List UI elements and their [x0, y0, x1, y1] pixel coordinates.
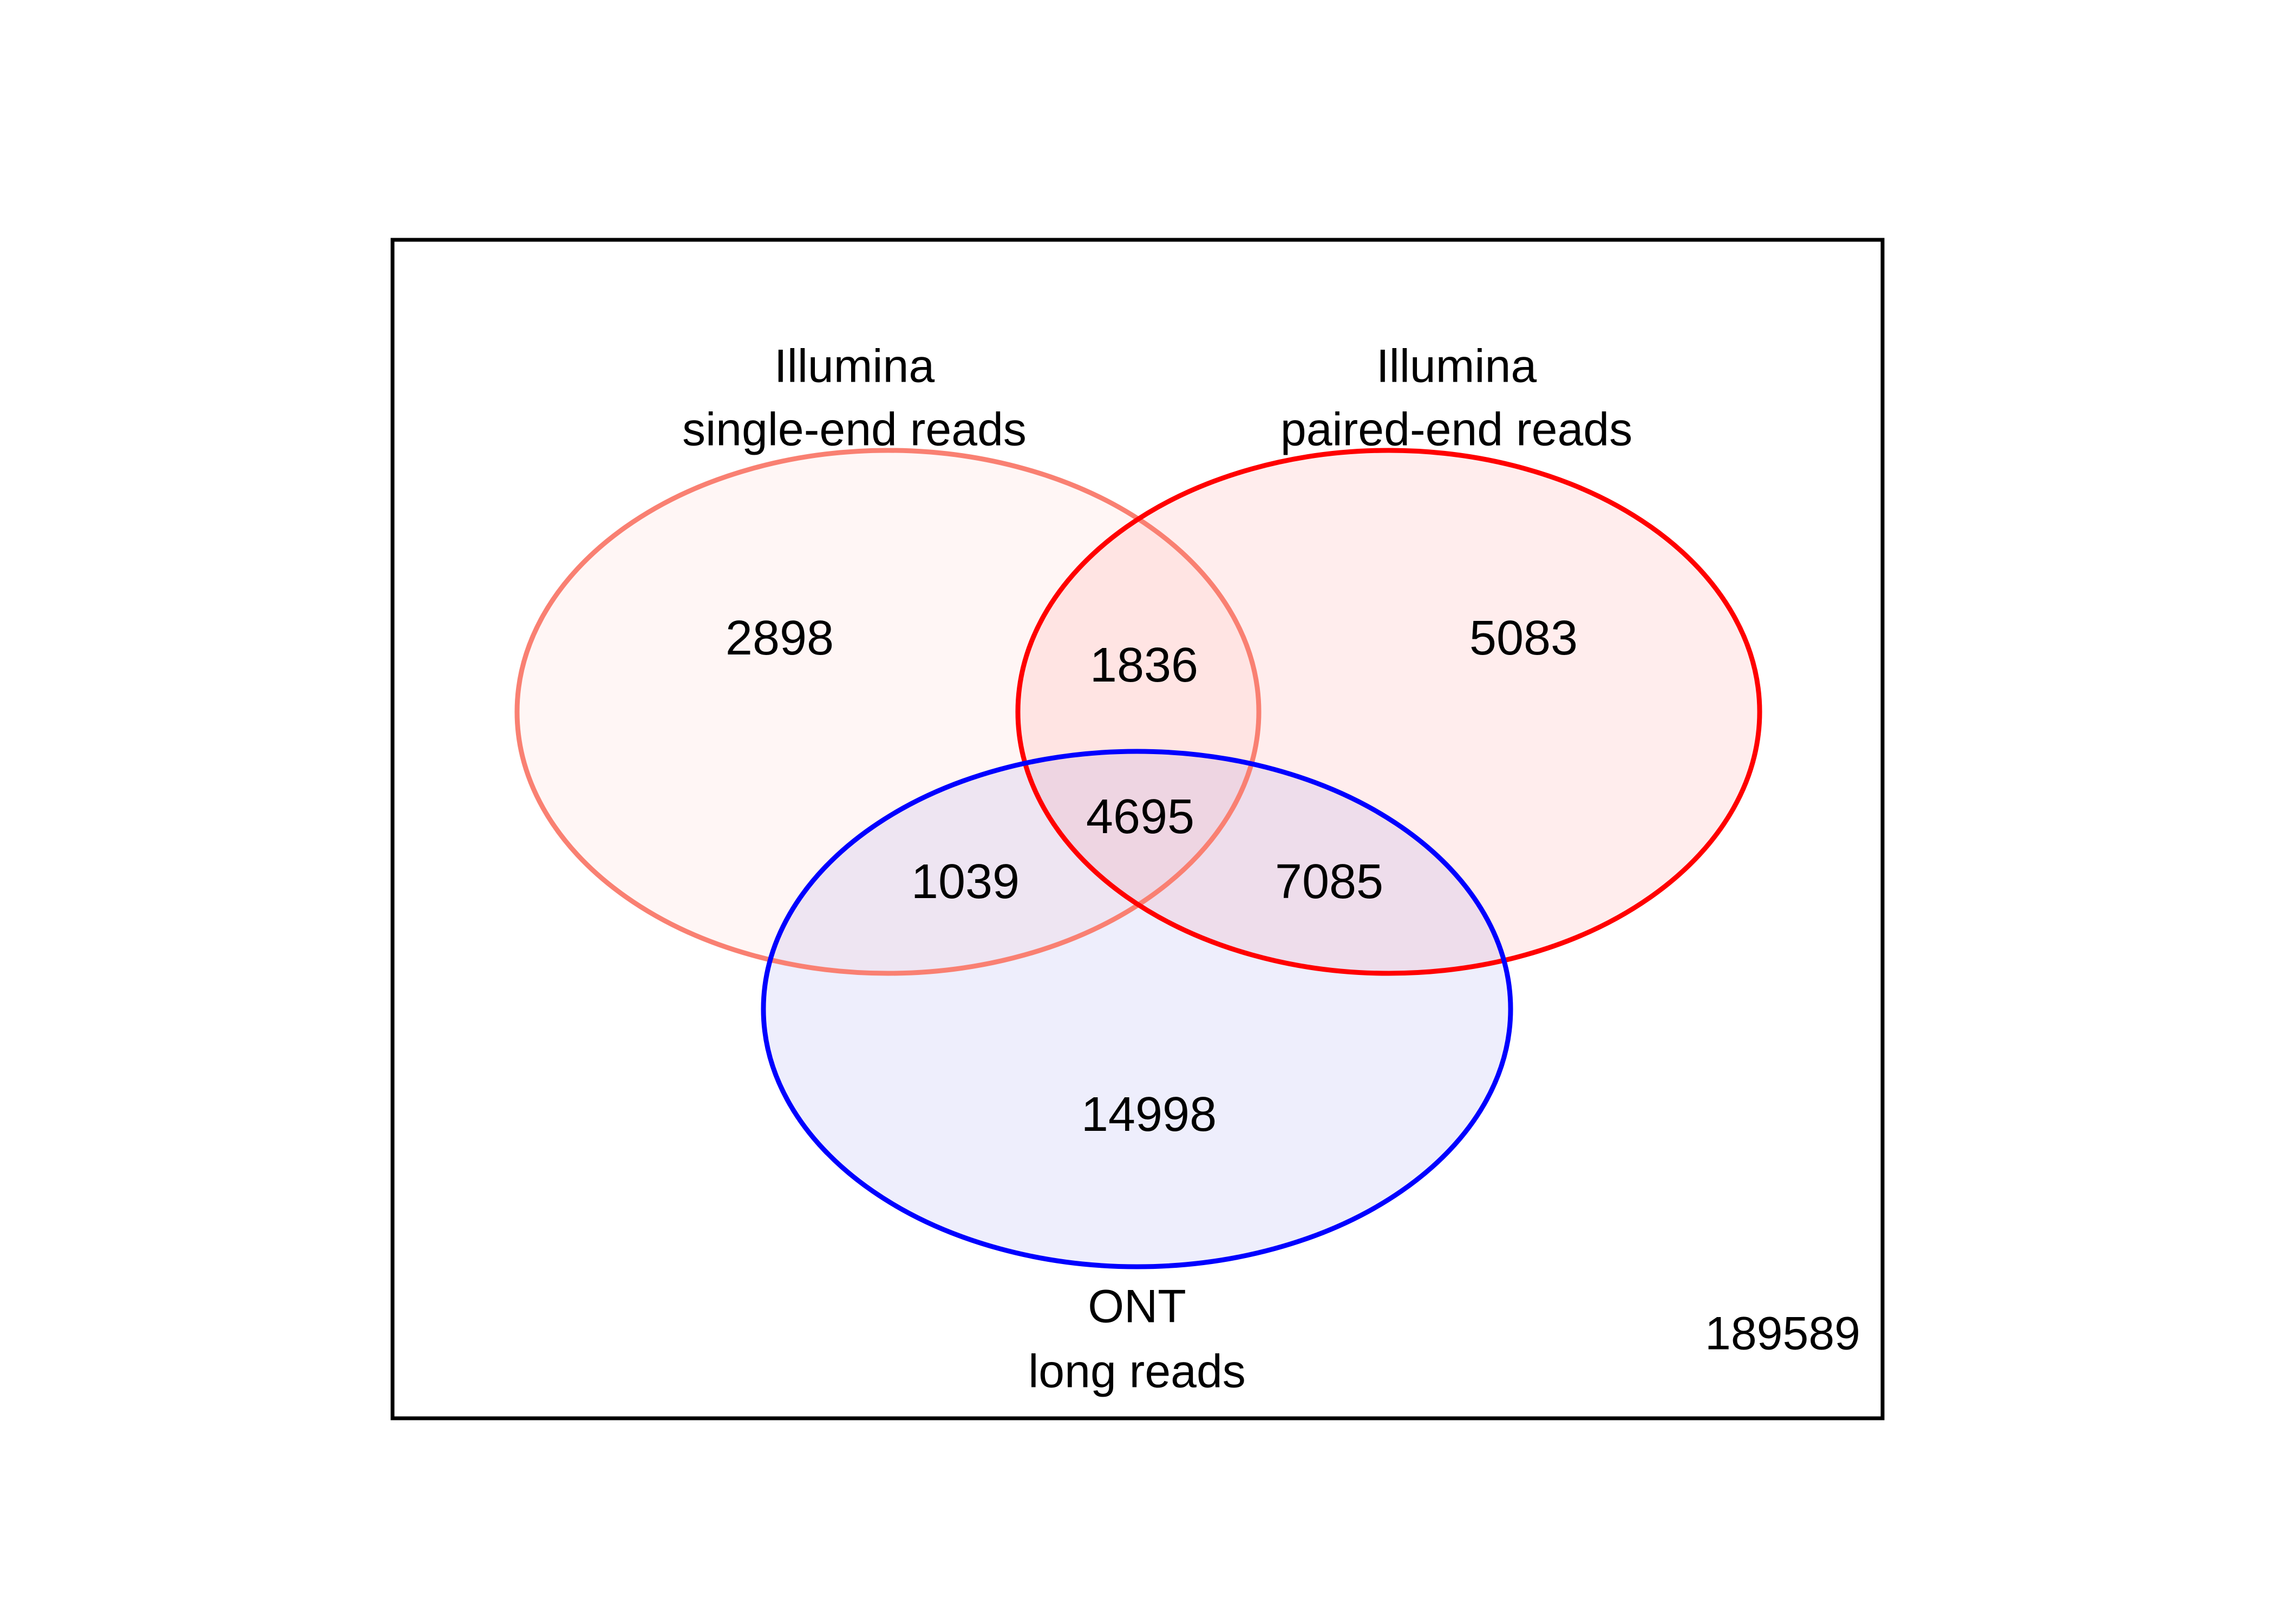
region-count-single-ont: 1039: [911, 855, 1020, 909]
region-count-paired-only: 5083: [1469, 611, 1578, 665]
set-label-illumina-paired-end-line1: Illumina: [1376, 340, 1537, 392]
region-count-all-three: 4695: [1086, 790, 1194, 844]
set-label-illumina-single-end-line2: single-end reads: [682, 404, 1027, 456]
region-count-outside: 189589: [1705, 1308, 1860, 1360]
venn-diagram-figure: Illumina single-end reads Illumina paire…: [0, 0, 2274, 1624]
set-label-illumina-paired-end-line2: paired-end reads: [1280, 404, 1632, 456]
venn-diagram-canvas: Illumina single-end reads Illumina paire…: [0, 0, 2274, 1624]
region-count-single-only: 2898: [726, 611, 834, 665]
region-count-ont-only: 14998: [1081, 1088, 1217, 1142]
set-label-illumina-single-end-line1: Illumina: [774, 340, 935, 392]
region-count-paired-ont: 7085: [1275, 855, 1383, 909]
region-count-single-paired: 1836: [1090, 638, 1198, 692]
set-label-ont-long-reads-line2: long reads: [1028, 1346, 1246, 1398]
set-label-ont-long-reads-line1: ONT: [1088, 1281, 1186, 1333]
